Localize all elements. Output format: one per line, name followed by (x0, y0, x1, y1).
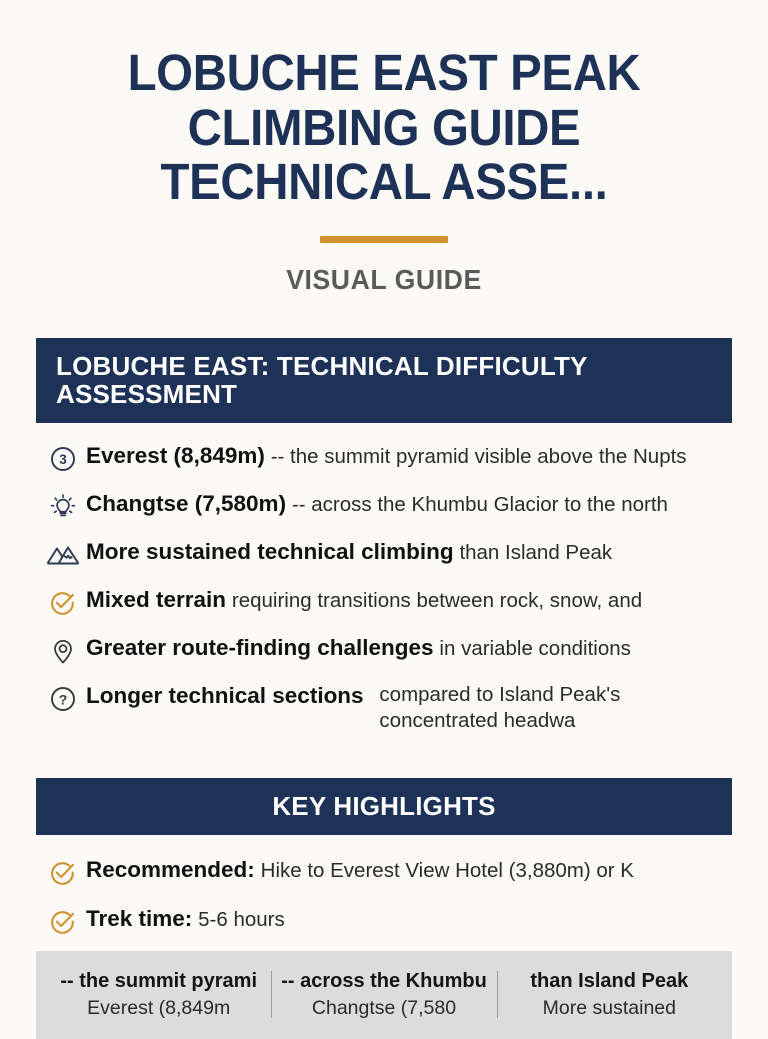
list-item-rest: than Island Peak (459, 541, 612, 564)
list-item: Greater route-finding challenges in vari… (40, 631, 728, 670)
assessment-section: LOBUCHE EAST: TECHNICAL DIFFICULTY ASSES… (36, 338, 732, 744)
stat-item: -- the summit pyrami Everest (8,849m (46, 967, 271, 1021)
list-item-rest: in variable conditions (439, 637, 630, 660)
list-item-rest: -- across the Khumbu Glacior to the nort… (292, 493, 668, 516)
svg-text:?: ? (59, 691, 68, 707)
stat-value: Everest (8,849m (54, 996, 263, 1021)
highlights-section-heading: KEY HIGHLIGHTS (36, 778, 732, 835)
list-item-lead: Longer technical sections (86, 683, 364, 708)
question-circle-icon: ? (40, 680, 86, 718)
stat-value: Changtse (7,580 (279, 996, 488, 1021)
page-subtitle: VISUAL GUIDE (53, 264, 714, 296)
list-item-lead: Recommended: (86, 857, 255, 882)
stat-label: -- across the Khumbu (279, 969, 488, 994)
page-title: LOBUCHE EAST PEAK CLIMBING GUIDE TECHNIC… (60, 46, 707, 210)
check-circle-icon (40, 584, 86, 622)
circled-number-three-icon: 3 (40, 440, 86, 478)
list-item-text: Greater route-finding challenges in vari… (86, 631, 728, 663)
list-item-lead: Greater route-finding challenges (86, 635, 434, 660)
list-item: Trek time: 5-6 hours (40, 902, 728, 941)
list-item-text: Changtse (7,580m) -- across the Khumbu G… (86, 487, 728, 519)
assessment-list: 3 Everest (8,849m) -- the summit pyramid… (36, 423, 732, 735)
stats-strip: -- the summit pyrami Everest (8,849m -- … (36, 951, 732, 1038)
infographic-page: LOBUCHE EAST PEAK CLIMBING GUIDE TECHNIC… (0, 0, 768, 1024)
title-divider (320, 236, 448, 243)
stat-label: -- the summit pyrami (54, 969, 263, 994)
list-item-rest: 5-6 hours (198, 908, 285, 931)
stat-item: -- across the Khumbu Changtse (7,580 (271, 967, 496, 1021)
header: LOBUCHE EAST PEAK CLIMBING GUIDE TECHNIC… (36, 0, 732, 296)
list-item-lead: More sustained technical climbing (86, 539, 454, 564)
list-item: Changtse (7,580m) -- across the Khumbu G… (40, 487, 728, 526)
list-item-text: Longer technical sections compared to Is… (86, 679, 728, 735)
list-item: Mixed terrain requiring transitions betw… (40, 583, 728, 622)
list-item-rest: requiring transitions between rock, snow… (232, 589, 642, 612)
list-item: 3 Everest (8,849m) -- the summit pyramid… (40, 439, 728, 478)
list-item-lead: Mixed terrain (86, 587, 226, 612)
stat-label: than Island Peak (505, 969, 714, 994)
list-item-text: Mixed terrain requiring transitions betw… (86, 583, 728, 615)
list-item-rest: -- the summit pyramid visible above the … (271, 445, 687, 468)
list-item-lead: Trek time: (86, 906, 192, 931)
list-item: ? Longer technical sections compared to … (40, 679, 728, 735)
check-circle-icon (40, 854, 86, 892)
lightbulb-icon (40, 488, 86, 526)
map-pin-icon (40, 632, 86, 670)
list-item-text: Recommended: Hike to Everest View Hotel … (86, 853, 728, 885)
highlights-section: KEY HIGHLIGHTS Recommended: Hike to Ever… (36, 778, 732, 951)
list-item-text: Everest (8,849m) -- the summit pyramid v… (86, 439, 728, 471)
list-item-lead: Changtse (7,580m) (86, 491, 286, 516)
list-item-rest: compared to Island Peak's concentrated h… (379, 682, 679, 735)
list-item-rest: Hike to Everest View Hotel (3,880m) or K (261, 859, 634, 882)
stat-value: More sustained (505, 996, 714, 1021)
list-item: More sustained technical climbing than I… (40, 535, 728, 574)
list-item-lead: Everest (8,849m) (86, 443, 265, 468)
assessment-section-heading: LOBUCHE EAST: TECHNICAL DIFFICULTY ASSES… (36, 338, 732, 423)
check-circle-icon (40, 903, 86, 941)
highlights-list: Recommended: Hike to Everest View Hotel … (36, 835, 732, 941)
mountain-icon (40, 536, 86, 574)
list-item-text: Trek time: 5-6 hours (86, 902, 728, 934)
list-item-text: More sustained technical climbing than I… (86, 535, 728, 567)
svg-text:3: 3 (59, 452, 67, 467)
stat-item: than Island Peak More sustained (497, 967, 722, 1021)
list-item: Recommended: Hike to Everest View Hotel … (40, 853, 728, 892)
